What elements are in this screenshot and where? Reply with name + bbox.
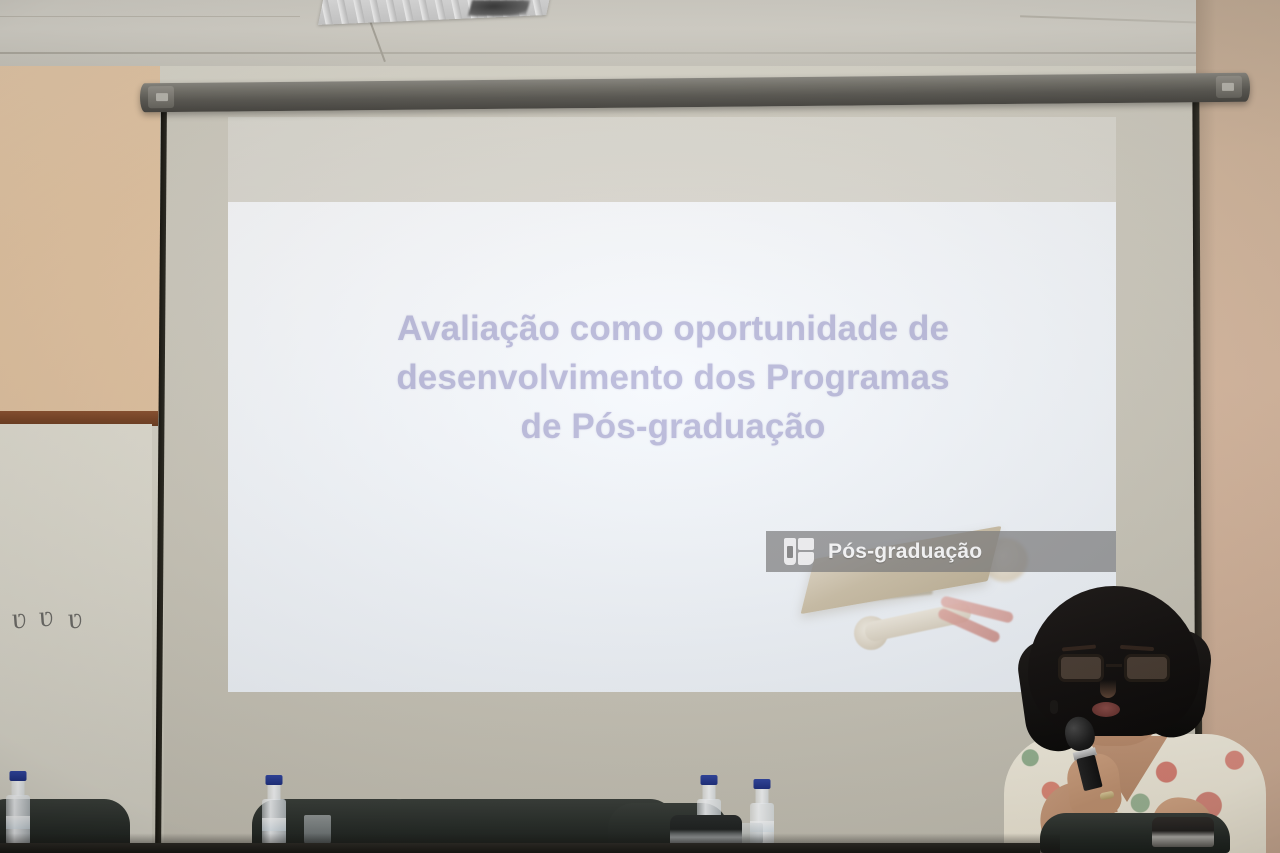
table-edge — [0, 843, 1040, 853]
presentation-photo-scene: ʋ ʋ ʋ Avaliação como oportunidade de des… — [0, 0, 1280, 853]
roller-badge-icon — [156, 93, 168, 101]
presentation-slide: Avaliação como oportunidade de desenvolv… — [228, 202, 1116, 692]
water-bottle — [262, 799, 286, 847]
ceiling — [0, 0, 1280, 72]
whiteboard-mark: ʋ — [11, 602, 27, 637]
air-vent-shadow — [468, 0, 531, 16]
drinking-glass — [304, 815, 331, 845]
earring-icon — [1050, 700, 1058, 714]
slide-title-line: Avaliação como oportunidade de — [318, 304, 1028, 353]
water-bottle — [6, 795, 30, 847]
whiteboard-mark: ʋ — [67, 602, 83, 637]
thermos — [1152, 817, 1214, 847]
presenter-mouth — [1092, 702, 1120, 717]
slide-title-line: desenvolvimento dos Programas — [318, 353, 1028, 402]
presenter-nose — [1100, 680, 1116, 698]
roller-badge-icon — [1222, 83, 1234, 91]
glasses-icon — [1056, 654, 1172, 682]
ceiling-grid-line — [0, 52, 1280, 54]
institution-logo-icon — [784, 538, 814, 565]
slide-title: Avaliação como oportunidade de desenvolv… — [318, 304, 1028, 451]
ceiling-grid-line — [0, 16, 300, 17]
slide-banner: Pós-graduação — [766, 531, 1116, 572]
banner-label: Pós-graduação — [828, 540, 982, 564]
left-wall-upper — [0, 66, 160, 418]
whiteboard-mark: ʋ — [38, 600, 54, 635]
slide-title-line: de Pós-graduação — [318, 402, 1028, 451]
